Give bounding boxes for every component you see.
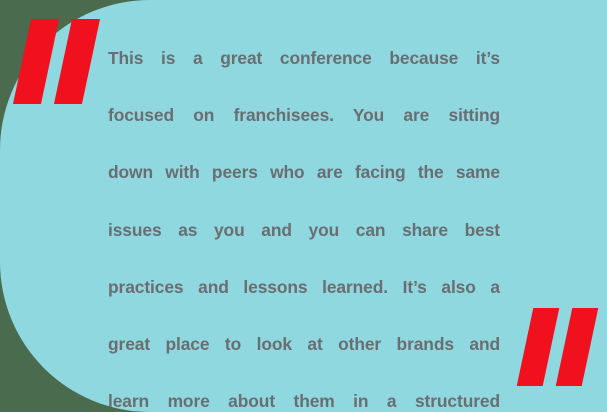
quote-line: issues as you and you can share best [108, 216, 500, 273]
testimonial-card: This is a great conference because it’s … [0, 0, 607, 412]
quote-line: down with peers who are facing the same [108, 158, 500, 215]
double-slash-quote-open-icon [20, 19, 98, 104]
double-slash-quote-close-icon [523, 308, 597, 386]
quote-close-bar-right [556, 308, 599, 386]
quote-line: This is a great conference because it’s [108, 44, 500, 101]
quote-line: learn more about them in a structured [108, 387, 500, 412]
quote-line: practices and lessons learned. It’s also… [108, 273, 500, 330]
quote-close-bar-left [517, 308, 560, 386]
quote-content: This is a great conference because it’s … [108, 44, 500, 412]
quote-open-bar-left [13, 19, 59, 104]
quote-open-bar-right [54, 19, 100, 104]
quote-text: This is a great conference because it’s … [108, 44, 500, 412]
quote-line: focused on franchisees. You are sitting [108, 101, 500, 158]
quote-line: great place to look at other brands and [108, 330, 500, 387]
